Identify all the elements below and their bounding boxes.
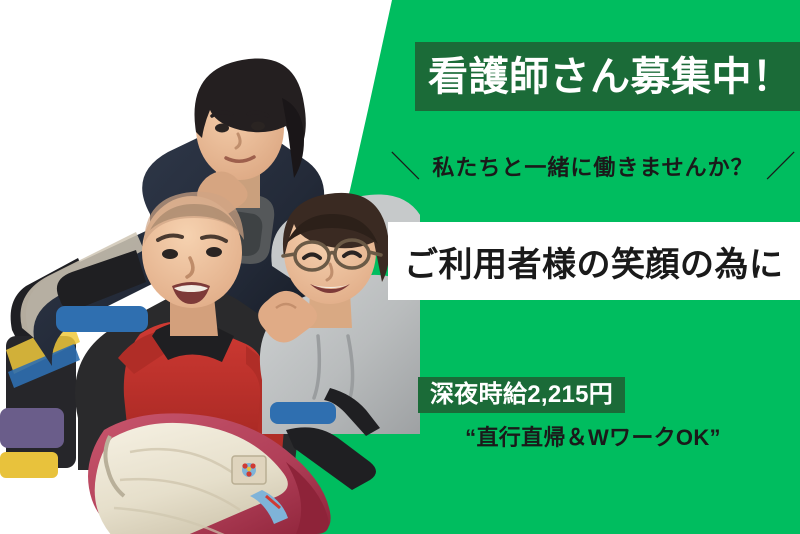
staff-photo [0,0,420,534]
slash-right-icon: ／ [766,153,796,183]
subtitle-text: 私たちと一緒に働きませんか？ [432,157,753,179]
headline-text: 看護師さん募集中！ [428,57,793,97]
wage-badge: 深夜時給2,215円 [418,377,625,413]
subtitle-row: ＼ 私たちと一緒に働きませんか？ ／ [398,148,788,188]
staff-photo-svg [0,0,420,534]
quote-text: “直行直帰＆WワークOK” [398,419,788,453]
white-band-text: ご利用者様の笑顔の為に [404,222,800,300]
recruitment-banner: 看護師さん募集中！ ＼ 私たちと一緒に働きませんか？ ／ ご利用者様の笑顔の為に… [0,0,800,534]
wage-badge-text: 深夜時給2,215円 [430,383,613,407]
headline-banner: 看護師さん募集中！ [415,42,800,111]
slash-left-icon: ＼ [390,153,420,183]
